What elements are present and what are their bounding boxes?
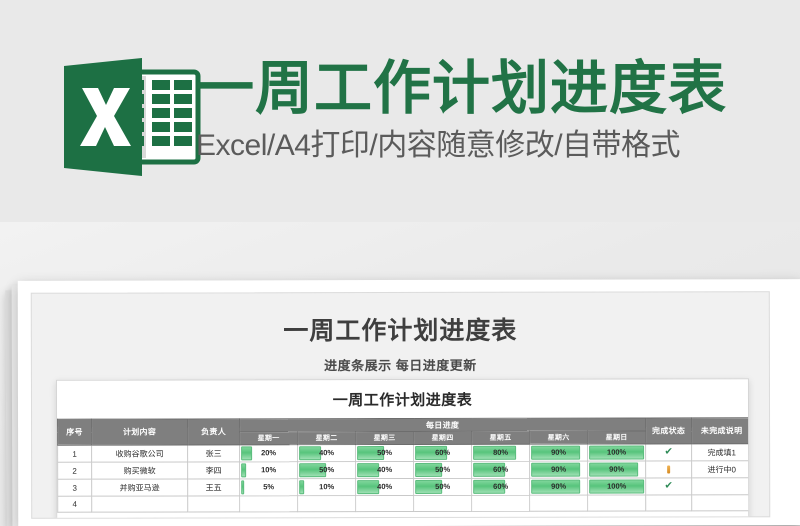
progress-label: 90% [530, 445, 587, 461]
excel-logo-icon [56, 58, 208, 176]
cell-progress-星期日[interactable]: 100% [588, 444, 646, 461]
cell-progress-星期三[interactable]: 40% [356, 478, 414, 495]
cell-progress-星期五[interactable] [472, 495, 530, 511]
cell-note[interactable]: 完成填1 [692, 444, 750, 461]
progress-label: 10% [298, 479, 355, 495]
col-header-note: 未完成说明 [692, 418, 750, 444]
cell-progress-星期一[interactable]: 10% [240, 462, 298, 479]
col-header-day-sat: 星期六 [530, 431, 588, 444]
cell-progress-星期一[interactable]: 20% [240, 445, 298, 462]
cell-status[interactable] [646, 495, 692, 511]
cell-progress-星期日[interactable]: 90% [588, 461, 646, 478]
cell-progress-星期日[interactable] [588, 495, 646, 511]
page-title: 一周工作计划进度表 [196, 56, 796, 122]
progress-label: 50% [414, 479, 471, 495]
col-header-day-mon: 星期一 [240, 432, 298, 445]
cell-progress-星期四[interactable]: 50% [414, 461, 472, 478]
cell-index[interactable]: 1 [58, 445, 92, 462]
cell-owner[interactable]: 王五 [188, 479, 240, 496]
cell-progress-星期五[interactable]: 60% [472, 461, 530, 478]
col-header-day-sun: 星期日 [588, 431, 646, 444]
cell-content[interactable]: 购买微软 [92, 462, 188, 479]
cell-progress-星期四[interactable]: 50% [414, 478, 472, 495]
cell-progress-星期四[interactable] [414, 495, 472, 511]
cell-progress-星期二[interactable]: 10% [298, 479, 356, 496]
cell-status[interactable]: ✔ [646, 444, 692, 461]
cell-progress-星期日[interactable]: 100% [588, 478, 646, 495]
cell-progress-星期三[interactable]: 50% [356, 444, 414, 461]
page-subtitle: Excel/A4打印/内容随意修改/自带格式 [196, 128, 796, 164]
cell-owner[interactable]: 张三 [188, 445, 240, 462]
progress-label: 50% [356, 445, 413, 461]
worksheet-card: 一周工作计划进度表 序号 [56, 378, 749, 519]
cell-progress-星期六[interactable]: 90% [530, 478, 588, 495]
preview-subtitle: 进度条展示 每日进度更新 [32, 354, 769, 375]
cell-progress-星期五[interactable]: 60% [472, 478, 530, 495]
cell-progress-星期一[interactable] [240, 496, 298, 512]
cell-progress-星期六[interactable]: 90% [530, 461, 588, 478]
cell-progress-星期三[interactable] [356, 495, 414, 511]
table-row[interactable]: 2购买微软李四10%50%40%50%60%90%90%进行中0 [58, 461, 750, 479]
col-header-owner: 负责人 [188, 419, 240, 445]
preview-title: 一周工作计划进度表 [32, 310, 769, 348]
cell-note[interactable]: 进行中0 [692, 461, 750, 478]
header-banner: 一周工作计划进度表 Excel/A4打印/内容随意修改/自带格式 [0, 0, 800, 222]
cell-index[interactable]: 4 [58, 496, 92, 512]
cell-progress-星期二[interactable]: 40% [298, 445, 356, 462]
col-header-day-tue: 星期二 [298, 432, 356, 445]
col-header-day-wed: 星期三 [356, 431, 414, 444]
progress-label: 50% [414, 462, 471, 478]
cell-content[interactable]: 收购谷歌公司 [92, 445, 188, 462]
progress-label: 80% [472, 445, 529, 461]
cell-progress-星期五[interactable]: 80% [472, 444, 530, 461]
preview-desk-scene: 一周工作计划进度表 进度条展示 每日进度更新 一周工作计划进度表 [0, 222, 800, 526]
col-header-day-fri: 星期五 [472, 431, 530, 444]
progress-label: 40% [356, 479, 413, 495]
cell-progress-星期二[interactable] [298, 496, 356, 512]
cell-owner[interactable]: 李四 [188, 462, 240, 479]
col-header-content: 计划内容 [92, 419, 188, 445]
col-header-status: 完成状态 [646, 418, 692, 444]
in-progress-bar-icon [667, 466, 670, 474]
cell-progress-星期六[interactable]: 90% [530, 444, 588, 461]
cell-content[interactable] [92, 496, 188, 512]
cell-note[interactable] [692, 478, 750, 495]
cell-progress-星期一[interactable]: 5% [240, 479, 298, 496]
cell-progress-星期四[interactable]: 60% [414, 444, 472, 461]
banner-text-block: 一周工作计划进度表 Excel/A4打印/内容随意修改/自带格式 [196, 56, 796, 164]
progress-label: 20% [240, 445, 297, 461]
cell-content[interactable]: 并购亚马逊 [92, 479, 188, 496]
cell-owner[interactable] [188, 496, 240, 512]
table-body: 1收购谷歌公司张三20%40%50%60%80%90%100%✔完成填12购买微… [58, 444, 750, 512]
table-row[interactable]: 4 [58, 495, 750, 512]
progress-label: 90% [530, 479, 587, 495]
progress-label: 60% [472, 479, 529, 495]
cell-progress-星期六[interactable] [530, 495, 588, 511]
progress-label: 90% [530, 462, 587, 478]
cell-status[interactable] [646, 461, 692, 478]
progress-label: 100% [588, 479, 645, 495]
table-header: 序号 计划内容 负责人 每日进度 完成状态 未完成说明 星期一 星期二 星期三 … [58, 418, 750, 445]
progress-label: 60% [472, 462, 529, 478]
progress-label: 60% [414, 445, 471, 461]
document-preview: 一周工作计划进度表 进度条展示 每日进度更新 一周工作计划进度表 [31, 291, 770, 519]
col-header-day-thu: 星期四 [414, 431, 472, 444]
cell-status[interactable]: ✔ [646, 478, 692, 495]
cell-progress-星期三[interactable]: 40% [356, 461, 414, 478]
check-icon: ✔ [665, 478, 673, 494]
col-header-index: 序号 [58, 419, 92, 445]
paper-sheet-front: 一周工作计划进度表 进度条展示 每日进度更新 一周工作计划进度表 [18, 279, 800, 526]
worksheet-title: 一周工作计划进度表 [57, 379, 748, 410]
progress-label: 50% [298, 462, 355, 478]
table-row[interactable]: 1收购谷歌公司张三20%40%50%60%80%90%100%✔完成填1 [58, 444, 750, 462]
progress-label: 10% [240, 462, 297, 478]
check-icon: ✔ [664, 444, 672, 460]
table-row[interactable]: 3并购亚马逊王五5%10%40%50%60%90%100%✔ [58, 478, 750, 496]
progress-label: 100% [588, 445, 645, 461]
progress-label: 40% [298, 445, 355, 461]
plan-progress-table: 序号 计划内容 负责人 每日进度 完成状态 未完成说明 星期一 星期二 星期三 … [57, 417, 749, 512]
cell-index[interactable]: 2 [58, 462, 92, 479]
cell-progress-星期二[interactable]: 50% [298, 462, 356, 479]
progress-label: 40% [356, 462, 413, 478]
progress-label: 5% [240, 479, 297, 495]
progress-label: 90% [588, 462, 645, 478]
cell-note[interactable] [692, 495, 749, 511]
cell-index[interactable]: 3 [58, 479, 92, 496]
col-header-daily-progress: 每日进度 [240, 418, 646, 432]
